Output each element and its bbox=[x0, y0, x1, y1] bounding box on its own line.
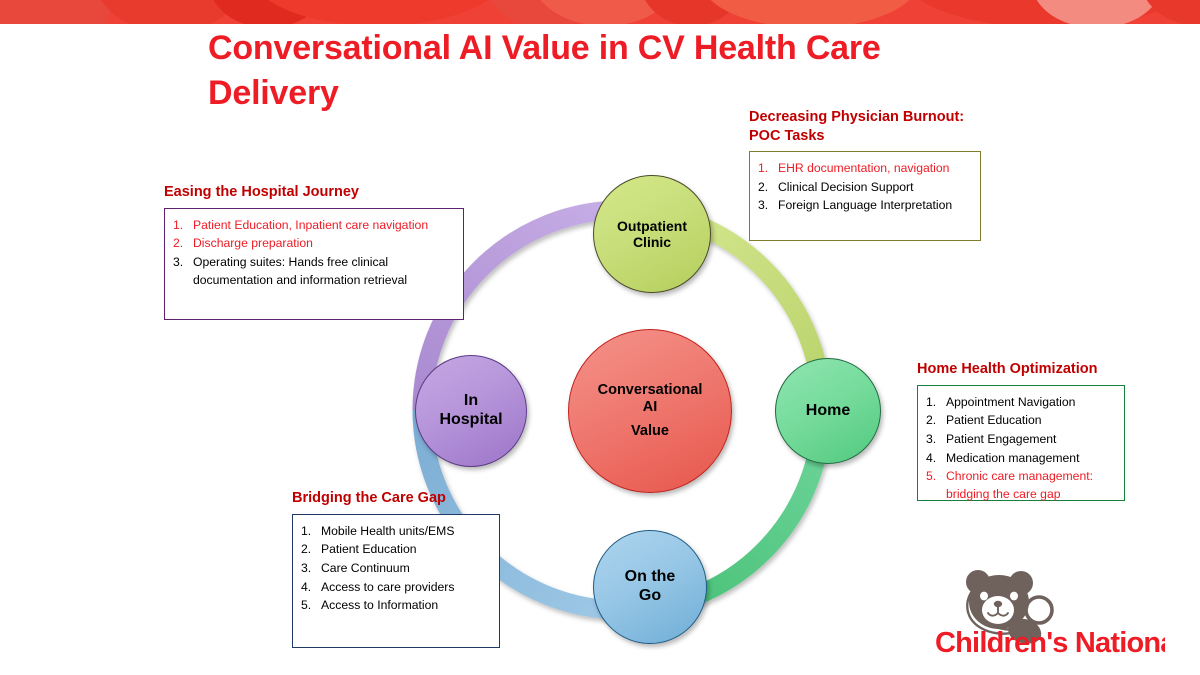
list-item: 5. Access to Information bbox=[301, 597, 489, 615]
list-item: 2. Patient Education bbox=[926, 412, 1114, 430]
callout-item-list: 1. Mobile Health units/EMS 2. Patient Ed… bbox=[301, 523, 489, 615]
list-item-number: 3. bbox=[301, 560, 321, 578]
callout-item-list: 1. EHR documentation, navigation 2. Clin… bbox=[758, 160, 970, 215]
center-node-label-line3: Value bbox=[598, 423, 703, 440]
list-item: 1. Appointment Navigation bbox=[926, 394, 1114, 412]
callout-box: 1. Patient Education, Inpatient care nav… bbox=[164, 208, 464, 320]
list-item: 1. EHR documentation, navigation bbox=[758, 160, 970, 178]
node-label: Clinic bbox=[617, 234, 687, 250]
logo-wordmark: Children's National. bbox=[935, 627, 1165, 658]
list-item-number: 2. bbox=[301, 541, 321, 559]
callout-box: 1. Appointment Navigation 2. Patient Edu… bbox=[917, 385, 1125, 501]
list-item-number: 1. bbox=[758, 160, 778, 178]
list-item-text: Access to Information bbox=[321, 597, 489, 615]
list-item-number: 3. bbox=[758, 197, 778, 215]
slide-canvas: Conversational AI Value in CV Health Car… bbox=[0, 0, 1200, 675]
node-label: Go bbox=[625, 587, 676, 606]
callout-title: Home Health Optimization bbox=[917, 360, 1125, 379]
list-item: 3. Operating suites: Hands free clinical… bbox=[173, 254, 453, 289]
list-item: 5. Chronic care management: bridging the… bbox=[926, 468, 1114, 503]
list-item-number: 1. bbox=[926, 394, 946, 412]
callout-box: 1. Mobile Health units/EMS 2. Patient Ed… bbox=[292, 514, 500, 648]
list-item-text: Patient Education bbox=[946, 412, 1114, 430]
center-node-conversational-ai-value[interactable]: Conversational AI Value bbox=[568, 329, 732, 493]
list-item-number: 1. bbox=[173, 217, 193, 235]
list-item-number: 2. bbox=[926, 412, 946, 430]
childrens-national-logo: Children's National. bbox=[935, 558, 1165, 658]
page-title: Conversational AI Value in CV Health Car… bbox=[208, 26, 928, 116]
callout-item-list: 1. Patient Education, Inpatient care nav… bbox=[173, 217, 453, 290]
list-item-text: Medication management bbox=[946, 450, 1114, 468]
list-item-number: 5. bbox=[301, 597, 321, 615]
callout-title: Bridging the Care Gap bbox=[292, 489, 472, 508]
list-item: 2. Discharge preparation bbox=[173, 235, 453, 253]
callout-title: Easing the Hospital Journey bbox=[164, 183, 464, 202]
node-label: Home bbox=[806, 402, 850, 421]
list-item: 3. Patient Engagement bbox=[926, 431, 1114, 449]
node-in-hospital[interactable]: In Hospital bbox=[415, 355, 527, 467]
list-item-text: Access to care providers bbox=[321, 579, 489, 597]
node-label: Hospital bbox=[439, 411, 502, 430]
list-item-text: Care Continuum bbox=[321, 560, 489, 578]
list-item-text: Patient Engagement bbox=[946, 431, 1114, 449]
callout-decreasing-physician-burnout: Decreasing Physician Burnout: POC Tasks … bbox=[749, 108, 981, 241]
node-label: Outpatient bbox=[617, 218, 687, 234]
list-item-text: Mobile Health units/EMS bbox=[321, 523, 489, 541]
list-item: 1. Patient Education, Inpatient care nav… bbox=[173, 217, 453, 235]
node-home[interactable]: Home bbox=[775, 358, 881, 464]
center-node-label-line2: AI bbox=[598, 399, 703, 416]
node-label: In bbox=[439, 392, 502, 411]
list-item-text: Clinical Decision Support bbox=[778, 179, 970, 197]
list-item-number: 2. bbox=[173, 235, 193, 253]
list-item: 4. Access to care providers bbox=[301, 579, 489, 597]
list-item-text: Discharge preparation bbox=[193, 235, 453, 253]
list-item-text: Patient Education bbox=[321, 541, 489, 559]
list-item-number: 1. bbox=[301, 523, 321, 541]
callout-title: Decreasing Physician Burnout: POC Tasks bbox=[749, 108, 981, 145]
callout-bridging-the-care-gap: Bridging the Care Gap 1. Mobile Health u… bbox=[292, 489, 500, 648]
node-outpatient-clinic[interactable]: Outpatient Clinic bbox=[593, 175, 711, 293]
node-label: On the bbox=[625, 568, 676, 587]
callout-easing-the-hospital-journey: Easing the Hospital Journey 1. Patient E… bbox=[164, 183, 464, 320]
list-item-text: Appointment Navigation bbox=[946, 394, 1114, 412]
list-item: 2. Patient Education bbox=[301, 541, 489, 559]
list-item: 4. Medication management bbox=[926, 450, 1114, 468]
callout-home-health-optimization: Home Health Optimization 1. Appointment … bbox=[917, 360, 1125, 501]
list-item-number: 4. bbox=[926, 450, 946, 468]
banner-blob bbox=[700, 0, 920, 24]
list-item-text: Chronic care management: bridging the ca… bbox=[946, 468, 1114, 503]
callout-box: 1. EHR documentation, navigation 2. Clin… bbox=[749, 151, 981, 241]
callout-item-list: 1. Appointment Navigation 2. Patient Edu… bbox=[926, 394, 1114, 504]
list-item-text: Patient Education, Inpatient care naviga… bbox=[193, 217, 453, 235]
list-item: 3. Foreign Language Interpretation bbox=[758, 197, 970, 215]
list-item-number: 3. bbox=[173, 254, 193, 289]
list-item: 3. Care Continuum bbox=[301, 560, 489, 578]
list-item-text: Operating suites: Hands free clinical do… bbox=[193, 254, 453, 289]
list-item-number: 3. bbox=[926, 431, 946, 449]
list-item-number: 5. bbox=[926, 468, 946, 503]
center-node-label-line1: Conversational bbox=[598, 382, 703, 399]
node-on-the-go[interactable]: On the Go bbox=[593, 530, 707, 644]
list-item-number: 2. bbox=[758, 179, 778, 197]
list-item: 1. Mobile Health units/EMS bbox=[301, 523, 489, 541]
list-item: 2. Clinical Decision Support bbox=[758, 179, 970, 197]
decorative-banner bbox=[0, 0, 1200, 24]
list-item-text: EHR documentation, navigation bbox=[778, 160, 970, 178]
list-item-number: 4. bbox=[301, 579, 321, 597]
list-item-text: Foreign Language Interpretation bbox=[778, 197, 970, 215]
banner-blob bbox=[0, 0, 110, 24]
